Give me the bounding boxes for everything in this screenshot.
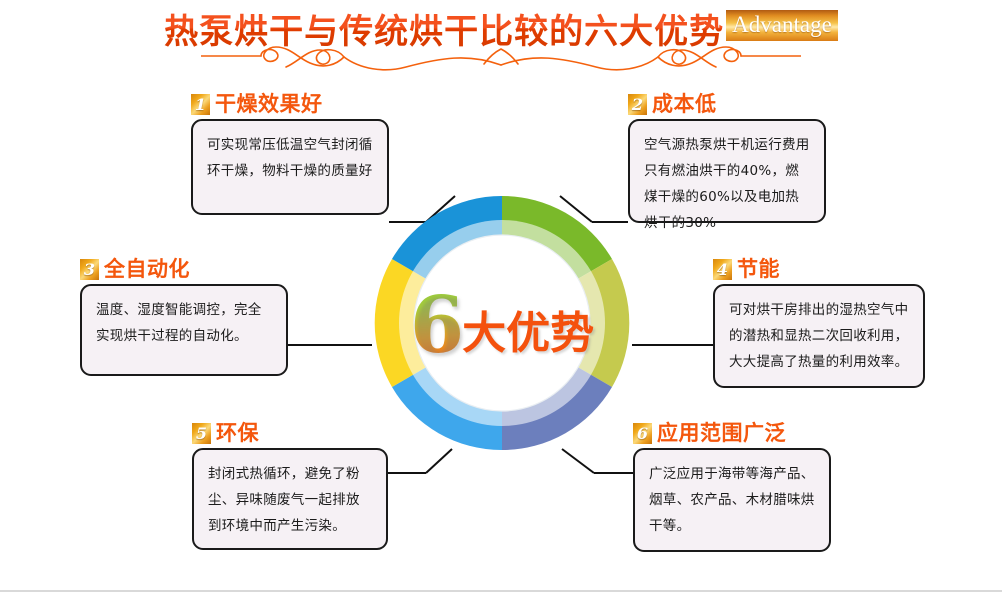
advantage-badge: Advantage [726, 10, 838, 41]
header: 热泵烘干与传统烘干比较的六大优势Advantage [0, 0, 1002, 78]
advantage-item-2-body: 空气源热泵烘干机运行费用只有燃油烘干的40%，燃煤干燥的60%以及电加热烘干的3… [628, 119, 826, 223]
ornamental-divider [0, 44, 1002, 78]
advantage-item-5-head: 5环保 [192, 423, 388, 444]
advantage-item-4-body: 可对烘干房排出的湿热空气中的潜热和显热二次回收利用，大大提高了热量的利用效率。 [713, 284, 925, 388]
number-badge-2: 2 [628, 94, 647, 115]
advantage-item-5-title: 环保 [216, 423, 259, 444]
advantage-item-1-title: 干燥效果好 [215, 94, 323, 115]
number-badge-4: 4 [713, 259, 732, 280]
advantage-item-6-head: 6应用范围广泛 [633, 423, 831, 444]
advantage-item-1[interactable]: 1干燥效果好 可实现常压低温空气封闭循环干燥，物料干燥的质量好 [191, 94, 389, 215]
advantage-item-6[interactable]: 6应用范围广泛 广泛应用于海带等海产品、烟草、农产品、木材腊味烘干等。 [633, 423, 831, 552]
flourish-icon [201, 44, 801, 74]
advantage-item-4-title: 节能 [737, 259, 780, 280]
donut-chart: 6大优势 [371, 192, 633, 454]
advantage-item-4[interactable]: 4节能 可对烘干房排出的湿热空气中的潜热和显热二次回收利用，大大提高了热量的利用… [713, 259, 925, 388]
number-badge-1: 1 [191, 94, 210, 115]
infographic-page: 热泵烘干与传统烘干比较的六大优势Advantage [0, 0, 1002, 592]
advantage-item-5-body: 封闭式热循环，避免了粉尘、异味随废气一起排放到环境中而产生污染。 [192, 448, 388, 550]
advantage-item-1-head: 1干燥效果好 [191, 94, 389, 115]
donut-svg [371, 192, 633, 454]
advantage-item-2[interactable]: 2成本低 空气源热泵烘干机运行费用只有燃油烘干的40%，燃煤干燥的60%以及电加… [628, 94, 826, 223]
number-badge-5: 5 [192, 423, 211, 444]
advantage-item-5[interactable]: 5环保 封闭式热循环，避免了粉尘、异味随废气一起排放到环境中而产生污染。 [192, 423, 388, 550]
number-badge-6: 6 [633, 423, 652, 444]
donut-center-hole [414, 235, 590, 411]
advantage-item-1-body: 可实现常压低温空气封闭循环干燥，物料干燥的质量好 [191, 119, 389, 215]
advantage-item-3-title: 全自动化 [104, 259, 190, 280]
advantage-item-4-head: 4节能 [713, 259, 925, 280]
advantage-item-2-title: 成本低 [652, 94, 717, 115]
advantage-item-2-head: 2成本低 [628, 94, 826, 115]
advantage-item-3-body: 温度、湿度智能调控，完全实现烘干过程的自动化。 [80, 284, 288, 376]
advantage-item-6-title: 应用范围广泛 [657, 423, 786, 444]
advantage-item-3-head: 3全自动化 [80, 259, 288, 280]
advantage-item-3[interactable]: 3全自动化 温度、湿度智能调控，完全实现烘干过程的自动化。 [80, 259, 288, 376]
advantage-item-6-body: 广泛应用于海带等海产品、烟草、农产品、木材腊味烘干等。 [633, 448, 831, 552]
number-badge-3: 3 [80, 259, 99, 280]
